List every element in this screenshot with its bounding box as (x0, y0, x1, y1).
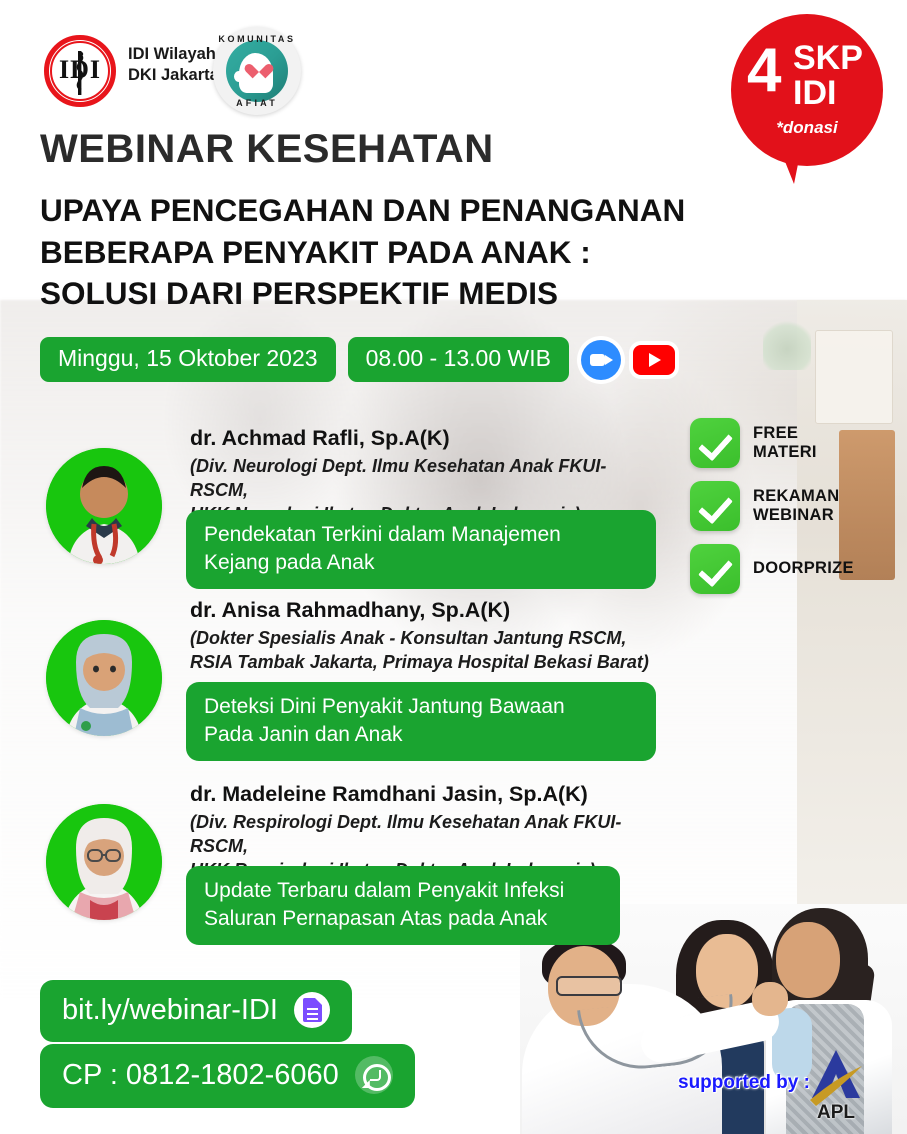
speaker-2-name: dr. Anisa Rahmadhany, Sp.A(K) (190, 598, 510, 623)
asclepius-rod-icon (68, 49, 92, 97)
background-notepad (815, 330, 893, 424)
benefit-2-line-1: REKAMAN (753, 487, 839, 506)
subtitle-line-2: BEBERAPA PENYAKIT PADA ANAK : (40, 232, 840, 274)
skp-label: SKP IDI (793, 41, 863, 110)
idi-name-line-1: IDI Wilayah (128, 44, 219, 65)
benefit-item-free-materi: FREE MATERI (690, 418, 854, 468)
speaker-2-affiliation-line-1: (Dokter Spesialis Anak - Konsultan Jantu… (190, 626, 649, 650)
youtube-icon[interactable] (633, 345, 675, 375)
speaker-3-name: dr. Madeleine Ramdhani Jasin, Sp.A(K) (190, 782, 588, 807)
speaker-1-name: dr. Achmad Rafli, Sp.A(K) (190, 426, 450, 451)
benefit-1-line-2: MATERI (753, 443, 817, 462)
speaker-3-avatar (46, 804, 162, 920)
speaker-3-topic-line-2: Saluran Pernapasan Atas pada Anak (204, 905, 602, 933)
skp-label-line-2: IDI (793, 76, 863, 111)
head-profile-nose (234, 71, 244, 82)
speaker-2-affiliation: (Dokter Spesialis Anak - Konsultan Jantu… (190, 626, 649, 674)
speaker-2-topic-line-2: Pada Janin dan Anak (204, 721, 638, 749)
registration-button[interactable]: bit.ly/webinar-IDI (40, 980, 352, 1042)
apl-logo-text: APL (800, 1102, 872, 1124)
benefit-label-2: REKAMAN WEBINAR (753, 487, 839, 526)
speaker-3-topic-line-1: Update Terbaru dalam Penyakit Infeksi (204, 877, 602, 905)
time-badge: 08.00 - 13.00 WIB (348, 337, 569, 382)
sponsor-label: supported by : (678, 1072, 810, 1094)
benefit-2-line-2: WEBINAR (753, 506, 839, 525)
subtitle-line-1: UPAYA PENCEGAHAN DAN PENANGANAN (40, 190, 840, 232)
skp-donation-note: *donasi (731, 118, 883, 138)
speaker-3-topic: Update Terbaru dalam Penyakit Infeksi Sa… (186, 866, 620, 945)
speaker-1-topic: Pendekatan Terkini dalam Manajemen Kejan… (186, 510, 656, 589)
speaker-2-affiliation-line-2: RSIA Tambak Jakarta, Primaya Hospital Be… (190, 650, 649, 674)
apl-mark-icon (800, 1048, 872, 1106)
speaker-3-affiliation-line-1: (Div. Respirologi Dept. Ilmu Kesehatan A… (190, 810, 660, 858)
speaker-2-avatar (46, 620, 162, 736)
contact-cta[interactable]: CP : 0812-1802-6060 (40, 1044, 415, 1108)
afiat-label-top: KOMUNITAS (213, 34, 301, 44)
afiat-label-bottom: AFIAT (213, 98, 301, 108)
benefit-label-3: DOORPRIZE (753, 559, 854, 578)
contact-number-text: CP : 0812-1802-6060 (62, 1059, 339, 1092)
komunitas-afiat-logo: KOMUNITAS AFIAT (213, 27, 301, 115)
benefit-item-doorprize: DOORPRIZE (690, 544, 854, 594)
schedule-row: Minggu, 15 Oktober 2023 08.00 - 13.00 WI… (40, 337, 675, 382)
whatsapp-icon[interactable] (355, 1056, 393, 1094)
registration-link-text: bit.ly/webinar-IDI (62, 994, 278, 1027)
webinar-subtitle: UPAYA PENCEGAHAN DAN PENANGANAN BEBERAPA… (40, 190, 840, 315)
page-title: WEBINAR KESEHATAN (40, 127, 494, 172)
webinar-poster: IDI IDI Wilayah DKI Jakarta KOMUNITAS AF… (0, 0, 907, 1134)
speaker-2-topic-line-1: Deteksi Dini Penyakit Jantung Bawaan (204, 693, 638, 721)
benefit-3-line-1: DOORPRIZE (753, 559, 854, 578)
zoom-icon[interactable] (581, 340, 621, 380)
date-badge: Minggu, 15 Oktober 2023 (40, 337, 336, 382)
speaker-1-topic-line-2: Kejang pada Anak (204, 549, 638, 577)
benefit-item-rekaman-webinar: REKAMAN WEBINAR (690, 481, 854, 531)
check-icon (690, 418, 740, 468)
idi-name-line-2: DKI Jakarta (128, 65, 219, 86)
speaker-card-1: dr. Achmad Rafli, Sp.A(K) (Div. Neurolog… (40, 426, 660, 586)
check-icon (690, 544, 740, 594)
contact-button[interactable]: CP : 0812-1802-6060 (40, 1044, 415, 1108)
apl-logo: APL (800, 1048, 872, 1124)
skp-label-line-1: SKP (793, 41, 863, 76)
background-plant (763, 318, 811, 370)
subtitle-line-3: SOLUSI DARI PERSPEKTIF MEDIS (40, 273, 840, 315)
benefit-1-line-1: FREE (753, 424, 817, 443)
google-forms-icon[interactable] (294, 992, 330, 1028)
skp-number: 4 (747, 40, 781, 102)
speaker-1-topic-line-1: Pendekatan Terkini dalam Manajemen (204, 521, 638, 549)
speaker-2-topic: Deteksi Dini Penyakit Jantung Bawaan Pad… (186, 682, 656, 761)
skp-credit-badge: 4 SKP IDI *donasi (731, 14, 883, 166)
heart-icon (250, 58, 268, 75)
benefit-label-1: FREE MATERI (753, 424, 817, 463)
idi-logo: IDI (38, 27, 122, 115)
speaker-card-3: dr. Madeleine Ramdhani Jasin, Sp.A(K) (D… (40, 782, 660, 942)
check-icon (690, 481, 740, 531)
registration-cta[interactable]: bit.ly/webinar-IDI (40, 980, 352, 1042)
speaker-1-avatar (46, 448, 162, 564)
idi-organization-name: IDI Wilayah DKI Jakarta (128, 44, 219, 85)
benefits-list: FREE MATERI REKAMAN WEBINAR DOORPRIZE (690, 418, 854, 607)
speaker-card-2: dr. Anisa Rahmadhany, Sp.A(K) (Dokter Sp… (40, 598, 660, 758)
speaker-1-affiliation-line-1: (Div. Neurologi Dept. Ilmu Kesehatan Ana… (190, 454, 660, 502)
